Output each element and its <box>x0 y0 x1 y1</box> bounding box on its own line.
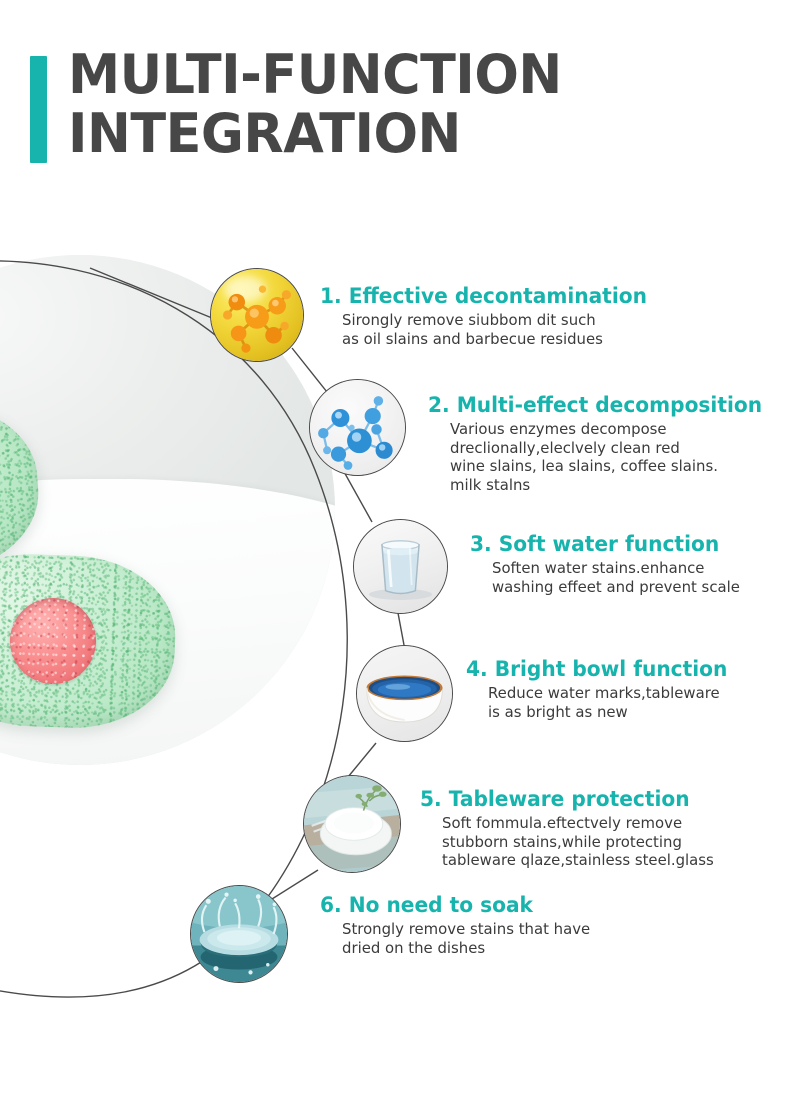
connector-3-to-4 <box>398 613 404 645</box>
infographic-page: MULTI-FUNCTION INTEGRATION <box>0 0 790 1106</box>
feature-1-heading: 1. Effective decontamination <box>320 284 647 309</box>
feature-5-text: 5. Tableware protection Soft fommula.eft… <box>420 787 725 870</box>
feature-1-text: 1. Effective decontamination Sirongly re… <box>320 284 661 348</box>
feature-4-text: 4. Bright bowl function Reduce water mar… <box>466 657 738 721</box>
blue-molecule-icon <box>309 379 406 476</box>
feature-4-heading: 4. Bright bowl function <box>466 657 727 682</box>
water-splash-plate-icon <box>190 885 288 983</box>
water-glass-icon <box>353 519 448 614</box>
page-title: MULTI-FUNCTION INTEGRATION <box>68 48 768 161</box>
feature-6-body: Strongly remove stains that have dried o… <box>320 920 601 957</box>
feature-4-body: Reduce water marks,tableware is as brigh… <box>466 684 738 721</box>
yellow-molecule-icon <box>210 268 304 362</box>
feature-3-heading: 3. Soft water function <box>470 532 739 557</box>
connector-4-to-5 <box>348 743 376 777</box>
feature-2-body: Various enzymes decompose dreclionally,e… <box>428 420 776 494</box>
feature-6-text: 6. No need to soak Strongly remove stain… <box>320 893 601 957</box>
connector-2-to-3 <box>343 470 372 522</box>
title-line-1: MULTI-FUNCTION <box>68 48 747 102</box>
feature-2-text: 2. Multi-effect decomposition Various en… <box>428 393 776 494</box>
feature-1-body: Sirongly remove siubbom dit such as oil … <box>320 311 661 348</box>
plates-table-setting-icon <box>303 775 401 873</box>
blue-bowl-icon <box>356 645 453 742</box>
feature-5-body: Soft fommula.eftectvely remove stubborn … <box>420 814 725 870</box>
feature-3-body: Soften water stains.enhance washing effe… <box>470 559 750 596</box>
title-line-2: INTEGRATION <box>68 107 747 161</box>
tablet-core <box>8 597 97 686</box>
feature-3-text: 3. Soft water function Soften water stai… <box>470 532 750 596</box>
page-header: MULTI-FUNCTION INTEGRATION <box>0 48 790 178</box>
feature-6-heading: 6. No need to soak <box>320 893 589 918</box>
title-accent-bar <box>30 56 47 163</box>
feature-5-heading: 5. Tableware protection <box>420 787 713 812</box>
feature-2-heading: 2. Multi-effect decomposition <box>428 393 762 418</box>
